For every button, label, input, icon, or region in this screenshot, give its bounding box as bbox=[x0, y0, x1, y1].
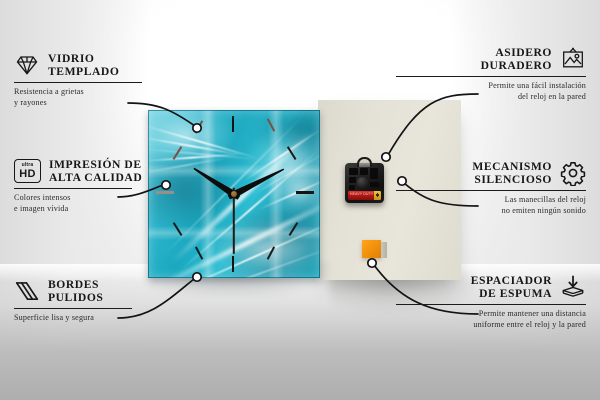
ultra-hd-icon-big-text: HD bbox=[19, 169, 36, 180]
mechanism-vent bbox=[349, 185, 355, 190]
callout-description: Colores intensos e imagen vívida bbox=[14, 193, 210, 214]
callout-desc-line1: Las manecillas del reloj bbox=[505, 195, 586, 204]
callout-rule bbox=[14, 82, 142, 83]
mechanism-vent bbox=[370, 168, 378, 179]
clock-mechanism: HEAVY DUTY BATTERY bbox=[345, 163, 384, 203]
callout-rule bbox=[396, 304, 586, 305]
callout-rule bbox=[396, 190, 586, 191]
callout-title: BORDES PULIDOS bbox=[48, 278, 103, 305]
mechanism-vent bbox=[349, 168, 358, 175]
callout-desc-line2: y rayones bbox=[14, 98, 47, 107]
diagonal-lines-icon bbox=[14, 278, 40, 304]
callout-desc-line1: Colores intensos bbox=[14, 193, 71, 202]
callout-vidrio-templado: VIDRIO TEMPLADO Resistencia a grietas y … bbox=[14, 52, 210, 108]
callout-desc-line2: del reloj en la pared bbox=[518, 92, 586, 101]
callout-title-line1: ESPACIADOR bbox=[471, 274, 552, 287]
battery-positive-cap bbox=[374, 191, 381, 200]
callout-header: ultra HD IMPRESIÓN DE ALTA CALIDAD bbox=[14, 158, 210, 185]
callout-title-line1: MECANISMO bbox=[472, 160, 552, 173]
callout-espaciador-de-espuma: ESPACIADOR DE ESPUMA Permite mantener un… bbox=[390, 274, 586, 330]
foam-spacer-side bbox=[381, 242, 387, 258]
callout-desc-line1: Resistencia a grietas bbox=[14, 87, 84, 96]
callout-header: ESPACIADOR DE ESPUMA bbox=[390, 274, 586, 301]
callout-title-line2: PULIDOS bbox=[48, 291, 103, 304]
callout-title-line2: SILENCIOSO bbox=[474, 173, 552, 186]
wall-hanger-hook bbox=[357, 157, 372, 167]
callout-header: VIDRIO TEMPLADO bbox=[14, 52, 210, 79]
battery: HEAVY DUTY BATTERY bbox=[348, 191, 381, 200]
callout-description: Resistencia a grietas y rayones bbox=[14, 87, 210, 108]
callout-description: Permite una fácil instalación del reloj … bbox=[390, 81, 586, 102]
callout-desc-line2: e imagen vívida bbox=[14, 204, 68, 213]
callout-rule bbox=[396, 76, 586, 77]
callout-desc-line1: Superficie lisa y segura bbox=[14, 313, 94, 322]
callout-title: VIDRIO TEMPLADO bbox=[48, 52, 119, 79]
mechanism-vent bbox=[360, 168, 368, 175]
mechanism-shaft bbox=[357, 177, 368, 188]
callout-desc-line1: Permite una fácil instalación bbox=[488, 81, 586, 90]
callout-header: BORDES PULIDOS bbox=[14, 278, 210, 305]
callout-description: Permite mantener una distancia uniforme … bbox=[390, 309, 586, 330]
callout-header: MECANISMO SILENCIOSO bbox=[390, 160, 586, 187]
callout-title-line2: DURADERO bbox=[481, 59, 552, 72]
callout-description: Las manecillas del reloj no emiten ningú… bbox=[390, 195, 586, 216]
callout-title-line2: DE ESPUMA bbox=[479, 287, 552, 300]
hanging-frame-icon bbox=[560, 46, 586, 72]
callout-desc-line2: no emiten ningún sonido bbox=[502, 206, 586, 215]
ultra-hd-icon: ultra HD bbox=[14, 159, 41, 183]
callout-title: ESPACIADOR DE ESPUMA bbox=[471, 274, 552, 301]
callout-desc-line2: uniforme entre el reloj y la pared bbox=[473, 320, 586, 329]
callout-desc-line1: Permite mantener una distancia bbox=[479, 309, 586, 318]
product-infographic: HEAVY DUTY BATTERY bbox=[0, 0, 600, 400]
callout-rule bbox=[14, 188, 132, 189]
callout-bordes-pulidos: BORDES PULIDOS Superficie lisa y segura bbox=[14, 278, 210, 324]
callout-title: IMPRESIÓN DE ALTA CALIDAD bbox=[49, 158, 142, 185]
callout-description: Superficie lisa y segura bbox=[14, 313, 210, 323]
callout-title-line1: BORDES bbox=[48, 278, 99, 291]
mechanism-vent bbox=[349, 177, 356, 183]
callout-title-line1: VIDRIO bbox=[48, 52, 94, 65]
callout-title-line1: IMPRESIÓN DE bbox=[49, 158, 142, 171]
callout-title-line2: ALTA CALIDAD bbox=[49, 171, 142, 184]
callout-title-line1: ASIDERO bbox=[495, 46, 552, 59]
battery-plus-icon bbox=[376, 194, 380, 195]
callout-header: ASIDERO DURADERO bbox=[390, 46, 586, 73]
callout-title: MECANISMO SILENCIOSO bbox=[472, 160, 552, 187]
callout-mecanismo-silencioso: MECANISMO SILENCIOSO Las manecillas del … bbox=[390, 160, 586, 216]
callout-rule bbox=[14, 308, 132, 309]
foam-spacer bbox=[362, 240, 381, 258]
gear-icon bbox=[560, 160, 586, 186]
callout-title: ASIDERO DURADERO bbox=[481, 46, 552, 73]
callout-title-line2: TEMPLADO bbox=[48, 65, 119, 78]
callout-impresion-alta-calidad: ultra HD IMPRESIÓN DE ALTA CALIDAD Color… bbox=[14, 158, 210, 214]
diamond-icon bbox=[14, 52, 40, 78]
callout-asidero-duradero: ASIDERO DURADERO Permite una fácil insta… bbox=[390, 46, 586, 102]
arrow-stack-icon bbox=[560, 274, 586, 300]
mechanism-vent bbox=[370, 182, 379, 187]
